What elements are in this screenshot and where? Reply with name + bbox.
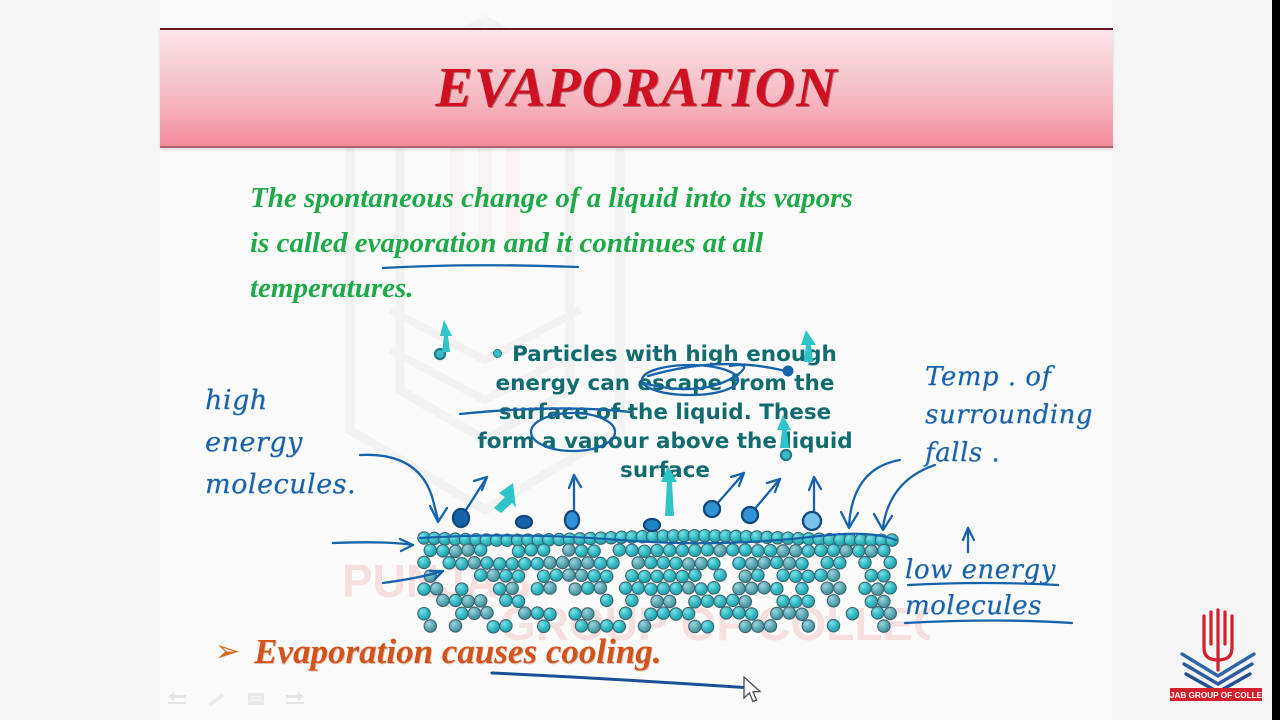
pen-icon[interactable]	[206, 691, 228, 707]
slideshow-toolbar[interactable]	[166, 691, 306, 707]
page-title: EVAPORATION	[435, 56, 837, 120]
lead-line-2: is called evaporation and it continues a…	[250, 221, 1050, 266]
punjab-group-of-colleges-logo: PUNJAB GROUP OF COLLEGES	[1168, 604, 1264, 704]
annotation-right-line-3: falls .	[925, 434, 1093, 472]
title-banner: EVAPORATION	[160, 28, 1113, 148]
annotation-right-line-2: surrounding	[925, 396, 1093, 434]
annotation-left-line-3: molecules.	[205, 464, 356, 506]
conclusion-line: ➢ Evaporation causes cooling.	[215, 632, 662, 672]
annotation-left-line-2: energy	[205, 422, 356, 464]
lead-line-1: The spontaneous change of a liquid into …	[250, 176, 1050, 221]
next-slide-icon[interactable]	[284, 691, 306, 707]
bullet-dot-icon	[493, 349, 502, 358]
previous-slide-icon[interactable]	[166, 691, 188, 707]
annotation-low-energy-molecules: low energy molecules	[905, 552, 1056, 624]
callout-line-3: surface of the liquid. These	[435, 398, 895, 427]
callout-line-4: form a vapour above the liquid	[435, 427, 895, 456]
annotation-temp-surrounding-falls: Temp . of surrounding falls .	[925, 358, 1093, 472]
lead-line-3: temperatures.	[250, 266, 1050, 311]
arrow-bullet-icon: ➢	[215, 637, 240, 667]
presentation-screen: PUNJAB GROUP OF COLLEGES EVAPORATION The…	[0, 0, 1280, 720]
conclusion-text: Evaporation causes cooling.	[254, 632, 661, 672]
annotation-right-line-1: Temp . of	[925, 358, 1093, 396]
annotation-bottom-line-1: low energy	[905, 552, 1056, 588]
callout-line-5: surface	[435, 456, 895, 485]
lead-paragraph: The spontaneous change of a liquid into …	[250, 176, 1050, 311]
annotation-left-line-1: high	[205, 380, 356, 422]
mouse-cursor	[742, 676, 764, 706]
annotation-bottom-line-2: molecules	[905, 588, 1056, 624]
annotation-high-energy-molecules: high energy molecules.	[205, 380, 356, 506]
menu-icon[interactable]	[246, 691, 266, 707]
screen-bezel-right	[1272, 0, 1280, 720]
callout-line-1-text: Particles with high enough	[512, 342, 837, 367]
logo-caption: PUNJAB GROUP OF COLLEGES	[1168, 691, 1264, 700]
callout-line-1: Particles with high enough	[435, 340, 895, 369]
callout-line-2: energy can escape from the	[435, 369, 895, 398]
particle-explanation-text: Particles with high enough energy can es…	[435, 340, 895, 485]
